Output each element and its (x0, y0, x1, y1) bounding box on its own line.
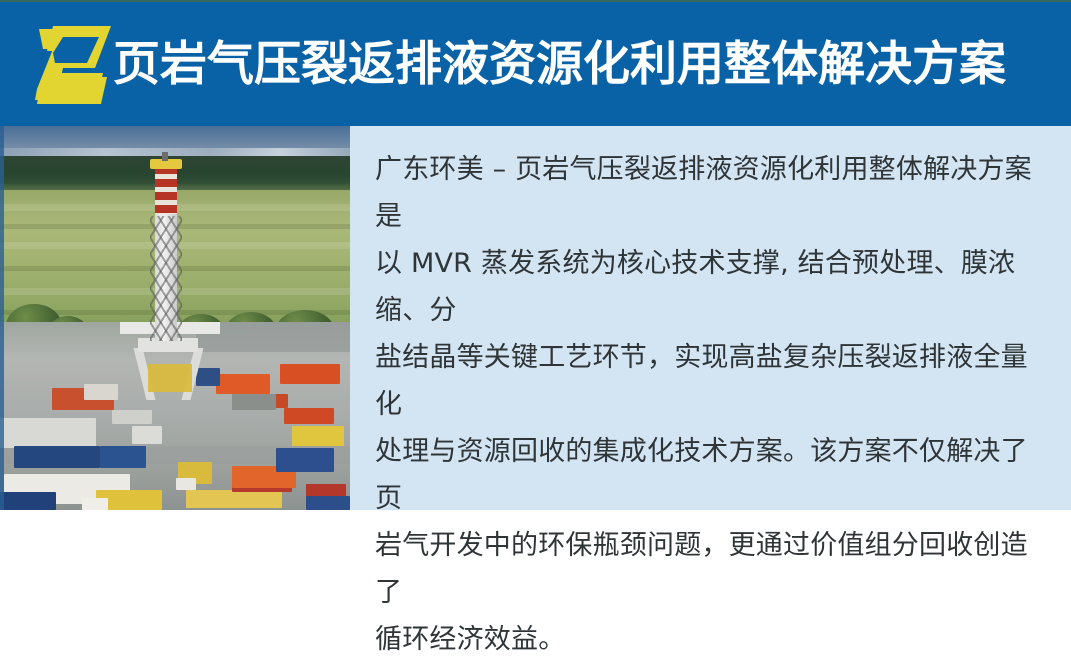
photo-equipment (280, 364, 340, 384)
section-header-banner: 页岩气压裂返排液资源化利用整体解决方案 (0, 0, 1071, 126)
page-title: 页岩气压裂返排液资源化利用整体解决方案 (113, 28, 1006, 102)
photo-left-edge-strip (0, 126, 4, 510)
description-line: 循环经济效益。 (375, 616, 1047, 663)
photo-equipment (276, 448, 334, 472)
description-panel: 广东环美 – 页岩气压裂返排液资源化利用整体解决方案是 以 MVR 蒸发系统为核… (350, 126, 1071, 510)
description-line: 处理与资源回收的集成化技术方案。该方案不仅解决了页 (375, 428, 1047, 522)
description-text: 广东环美 – 页岩气压裂返排液资源化利用整体解决方案是 以 MVR 蒸发系统为核… (375, 146, 1047, 663)
photo-equipment (292, 426, 344, 446)
description-line: 以 MVR 蒸发系统为核心技术支撑, 结合预处理、膜浓缩、分 (375, 240, 1047, 334)
photo-equipment (176, 478, 196, 490)
description-line: 岩气开发中的环保瓶颈问题，更通过价值组分回收创造了 (375, 522, 1047, 616)
photo-equipment (14, 446, 100, 468)
photo-equipment (186, 490, 282, 508)
photo-equipment (216, 374, 270, 394)
description-line: 盐结晶等关键工艺环节，实现高盐复杂压裂返排液全量化 (375, 334, 1047, 428)
photo-equipment (0, 492, 56, 510)
photo-equipment (232, 394, 276, 410)
photo-equipment (306, 496, 350, 510)
photo-equipment (82, 498, 108, 510)
photo-equipment (196, 368, 220, 386)
solution-section: 页岩气压裂返排液资源化利用整体解决方案 (0, 0, 1071, 510)
photo-equipment (284, 408, 334, 424)
photo-equipment (112, 410, 152, 424)
photo-equipment (132, 426, 162, 444)
photo-equipment (0, 418, 96, 448)
photo-equipment (100, 446, 146, 468)
photo-equipment (84, 384, 118, 400)
description-line: 广东环美 – 页岩气压裂返排液资源化利用整体解决方案是 (375, 146, 1047, 240)
well-pad-photo (0, 126, 350, 510)
content-area: 广东环美 – 页岩气压裂返排液资源化利用整体解决方案是 以 MVR 蒸发系统为核… (0, 126, 1071, 510)
banner-top-rule (0, 0, 1071, 2)
section-number-2-icon (33, 23, 119, 107)
